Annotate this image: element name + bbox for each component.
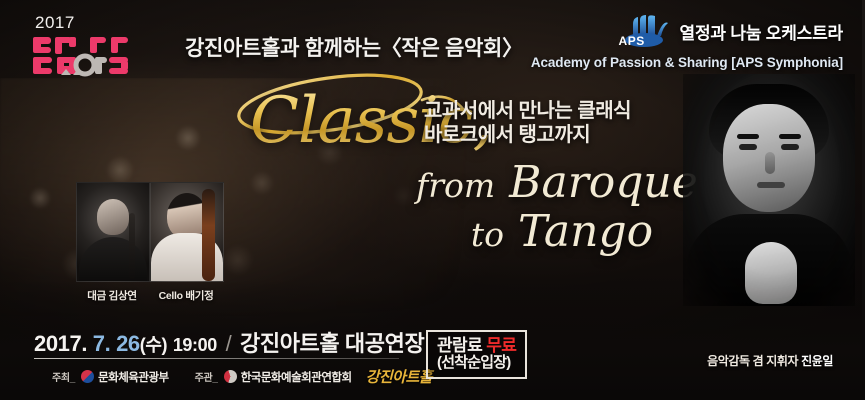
male-daegeum-performer-photo bbox=[76, 182, 150, 282]
baroque-word-baroque: Baroque bbox=[509, 157, 698, 208]
classic-subtitle-line2: 바로크에서 탱고까지 bbox=[424, 124, 631, 148]
divider bbox=[34, 358, 399, 359]
organizer-name: 한국문화예술회관연합회 bbox=[241, 369, 352, 385]
sponsor-row: 주최_ 문화체육관광부 주관_ 한국문화예술회관연합회 강진아트홀 bbox=[52, 366, 432, 387]
fee-value: 무료 bbox=[486, 336, 516, 355]
admission-fee-box: 관람료 무료 (선착순입장) bbox=[426, 330, 527, 379]
organizer-label: 주관_ bbox=[195, 369, 218, 384]
conductor-role: 음악감독 겸 지휘자 bbox=[707, 354, 798, 368]
aps-orchestra-branding: APS 열정과 나눔 오케스트라 Academy of Passion & Sh… bbox=[531, 14, 843, 70]
event-date-venue: 2017. 7. 26(수) 19:00 / 강진아트홀 대공연장 bbox=[34, 326, 424, 358]
conductor-caption: 음악감독 겸 지휘자 진윤일 bbox=[707, 352, 833, 369]
daegeum-instrument-icon bbox=[129, 213, 135, 279]
event-year: 2017. bbox=[34, 331, 87, 356]
aps-korean-name: 열정과 나눔 오케스트라 bbox=[680, 19, 843, 44]
gangjin-art-hall-logo: 강진아트홀 bbox=[366, 366, 433, 387]
fee-note: (선착순입장) bbox=[437, 355, 516, 372]
conductor-portrait-photo bbox=[683, 74, 855, 306]
conductor-name: 진윤일 bbox=[801, 354, 833, 368]
culture-day-mark-icon bbox=[33, 35, 145, 82]
fee-label: 관람료 bbox=[437, 336, 482, 355]
culture-day-year: 2017 bbox=[35, 14, 145, 31]
baroque-word-tango: Tango bbox=[518, 206, 653, 257]
event-weekday: (수) bbox=[140, 335, 167, 355]
baroque-tango-title: from Baroque to Tango bbox=[402, 160, 722, 255]
host-label: 주최_ bbox=[52, 369, 75, 384]
culture-day-logo: 2017 bbox=[25, 14, 145, 76]
event-day: 26 bbox=[116, 331, 140, 356]
performer-list: 대금 김상연 Cello 배기정 bbox=[76, 182, 222, 303]
classic-subtitle-line1: 교과서에서 만나는 클래식 bbox=[424, 100, 631, 124]
event-month: 7. bbox=[93, 331, 111, 356]
aps-logo-wordmark: APS bbox=[619, 34, 645, 48]
performer-item: 대금 김상연 bbox=[76, 182, 148, 303]
cello-instrument-icon bbox=[202, 189, 215, 281]
aps-logo-icon: APS bbox=[617, 14, 671, 48]
classic-subtitle: 교과서에서 만나는 클래식 바로크에서 탱고까지 bbox=[424, 100, 631, 147]
performer-item: Cello 배기정 bbox=[150, 182, 222, 303]
performer-caption: 대금 김상연 bbox=[76, 288, 148, 303]
baroque-word-to: to bbox=[471, 215, 504, 254]
kocaca-emblem-icon bbox=[224, 370, 237, 383]
concert-poster: 2017 bbox=[0, 0, 865, 400]
page-title: 강진아트홀과 함께하는〈작은 음악회〉 bbox=[185, 32, 523, 62]
event-time: 19:00 bbox=[173, 335, 217, 355]
performer-caption: Cello 배기정 bbox=[150, 288, 222, 303]
event-separator: / bbox=[223, 331, 235, 356]
event-venue: 강진아트홀 대공연장 bbox=[240, 331, 424, 356]
taegeuk-emblem-icon bbox=[81, 370, 94, 383]
female-cello-performer-photo bbox=[150, 182, 224, 282]
aps-english-name: Academy of Passion & Sharing [APS Sympho… bbox=[531, 55, 843, 70]
baroque-word-from: from bbox=[416, 166, 495, 205]
host-name: 문화체육관광부 bbox=[98, 369, 169, 385]
